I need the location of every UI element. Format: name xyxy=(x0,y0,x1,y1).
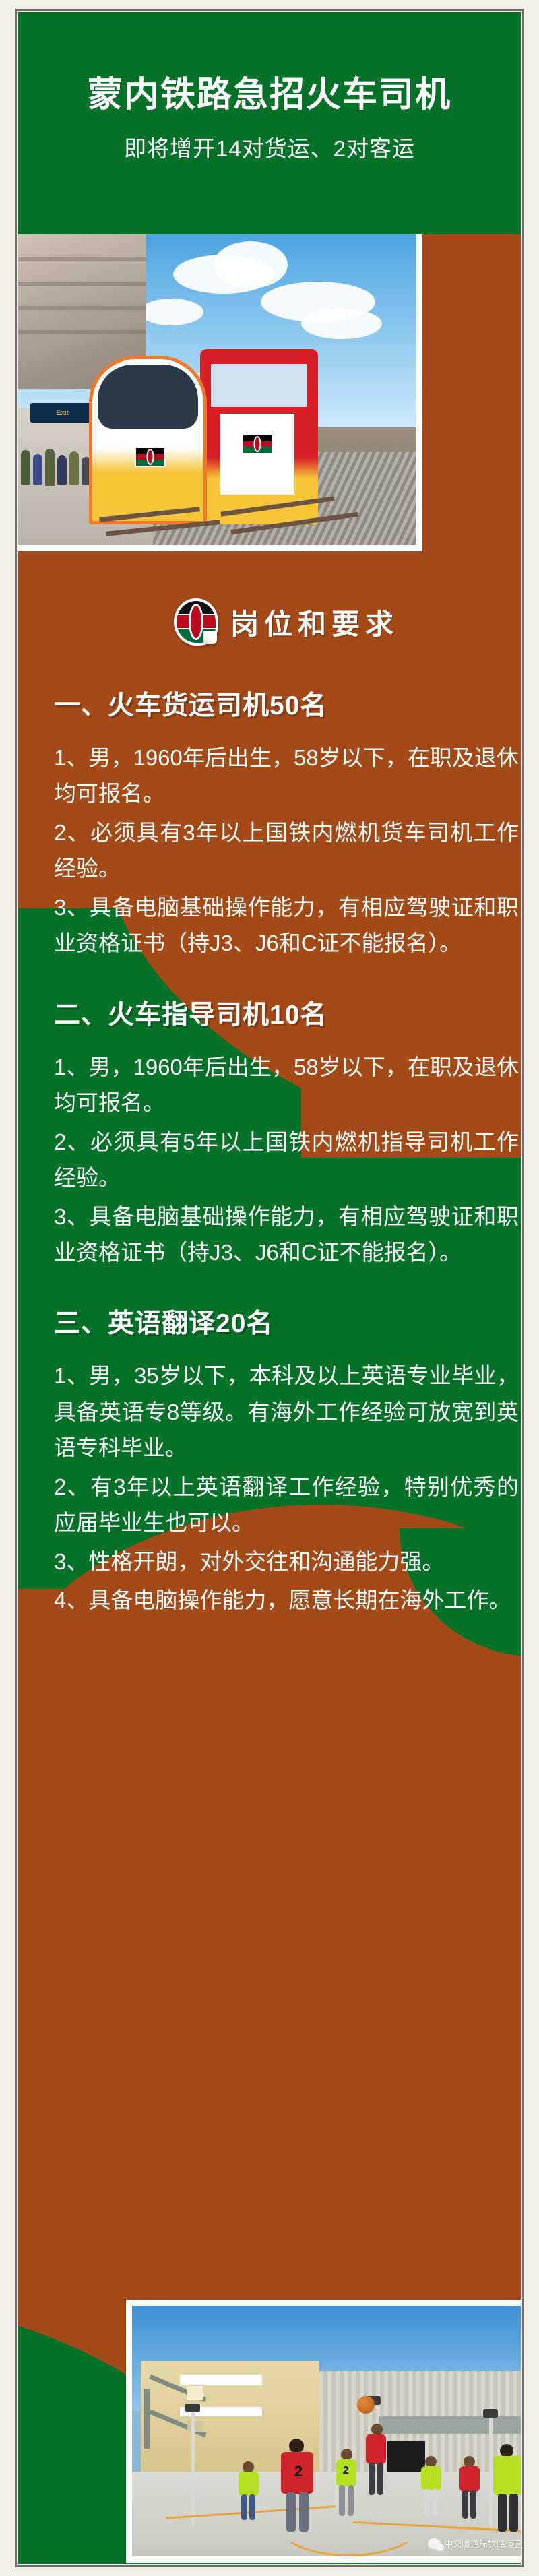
job-requirement: 2、有3年以上英语翻译工作经验，特别优秀的应届毕业生也可以。 xyxy=(54,1469,519,1541)
job-requirement: 3、具备电脑基础操作能力，有相应驾驶证和职业资格证书（持J3、J6和C证不能报名… xyxy=(54,1199,519,1271)
poster-canvas: 蒙内铁路急招火车司机 即将增开14对货运、2对客运 Exit xyxy=(18,12,521,2564)
job-requirement: 2、必须具有3年以上国铁内燃机货车司机工作经验。 xyxy=(54,815,519,887)
section-heading-label: 岗位和要求 xyxy=(230,602,399,643)
job-requirement: 2、必须具有5年以上国铁内燃机指导司机工作经验。 xyxy=(54,1124,519,1196)
jersey-number: 2 xyxy=(343,2465,349,2477)
cloud xyxy=(301,309,382,339)
cloud xyxy=(139,299,203,325)
job-title: 三、英语翻译20名 xyxy=(54,1302,519,1340)
basketball-photo: 2 2 xyxy=(126,2300,521,2563)
job-requirement: 1、男，1960年后出生，58岁以下，在职及退休均可报名。 xyxy=(54,1049,519,1121)
flood-light-icon xyxy=(185,2404,200,2412)
kenya-flag-badge-icon xyxy=(174,598,218,646)
section-heading: 岗位和要求 xyxy=(54,598,519,646)
job-requirement: 1、男，1960年后出生，58岁以下，在职及退休均可报名。 xyxy=(54,740,519,812)
page-subtitle: 即将增开14对货运、2对客运 xyxy=(124,131,415,163)
locomotive-red xyxy=(200,349,318,524)
content-bottom-spacer xyxy=(54,1621,519,1911)
light-pole xyxy=(489,2411,493,2526)
flood-light-icon xyxy=(483,2409,498,2418)
job-title: 一、火车货运司机50名 xyxy=(54,685,519,722)
job-block-1: 一、火车货运司机50名 1、男，1960年后出生，58岁以下，在职及退休均可报名… xyxy=(54,685,519,962)
kenya-flag-icon xyxy=(135,447,166,467)
job-block-2: 二、火车指导司机10名 1、男，1960年后出生，58岁以下，在职及退休均可报名… xyxy=(54,994,519,1271)
light-pole xyxy=(191,2406,195,2527)
job-block-3: 三、英语翻译20名 1、男，35岁以下，本科及以上英语专业毕业，具备英语专8等级… xyxy=(54,1302,519,1618)
job-requirement: 1、男，35岁以下，本科及以上英语专业毕业，具备英语专8等级。有海外工作经验可放… xyxy=(54,1358,519,1466)
recruitment-poster: 蒙内铁路急招火车司机 即将增开14对货运、2对客运 Exit xyxy=(0,0,539,2576)
cloud xyxy=(214,241,288,288)
train-photo: Exit xyxy=(18,234,422,551)
exit-sign: Exit xyxy=(30,403,94,423)
page-title: 蒙内铁路急招火车司机 xyxy=(88,75,451,116)
watermark: 中交隧道局铁路运营分公司 xyxy=(428,2537,521,2550)
poster-content: 岗位和要求 一、火车货运司机50名 1、男，1960年后出生，58岁以下，在职及… xyxy=(36,551,521,1911)
poster-header: 蒙内铁路急招火车司机 即将增开14对货运、2对客运 xyxy=(18,12,521,234)
job-requirement: 4、具备电脑操作能力，愿意长期在海外工作。 xyxy=(54,1582,519,1618)
locomotive-dmu xyxy=(89,356,207,524)
job-requirement: 3、性格开朗，对外交往和沟通能力强。 xyxy=(54,1544,519,1579)
job-requirement: 3、具备电脑基础操作能力，有相应驾驶证和职业资格证书（持J3、J6和C证不能报名… xyxy=(54,889,519,962)
job-title: 二、火车指导司机10名 xyxy=(54,994,519,1032)
watermark-label: 中交隧道局铁路运营分公司 xyxy=(444,2537,521,2550)
kenya-flag-icon xyxy=(242,434,273,454)
wechat-icon xyxy=(428,2538,441,2549)
warehouse-awning xyxy=(379,2416,521,2434)
exit-sign-label: Exit xyxy=(56,409,68,417)
jersey-number: 2 xyxy=(294,2463,303,2480)
